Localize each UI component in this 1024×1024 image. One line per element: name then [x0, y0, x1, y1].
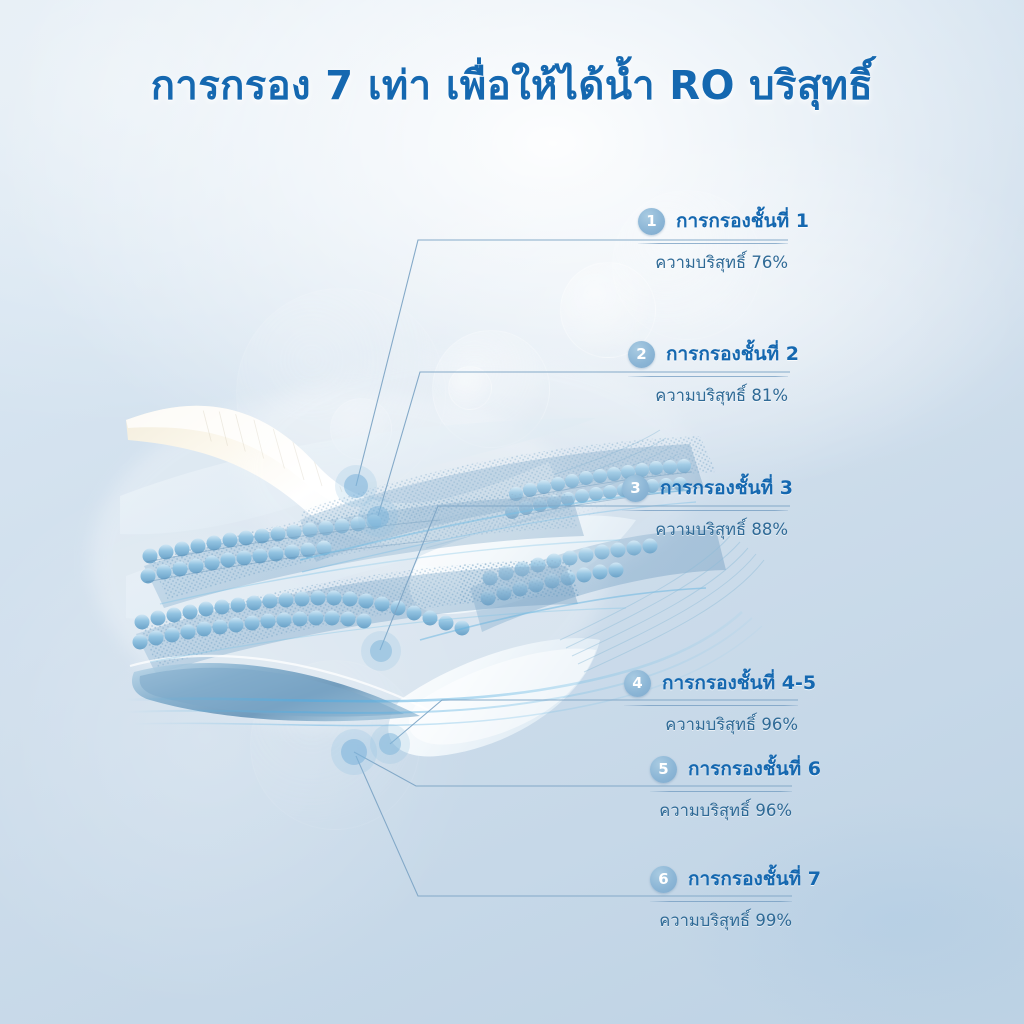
- callout-3[interactable]: 3 การกรองชั้นที่ 3 ความบริสุทธิ์ 88%: [622, 473, 788, 543]
- callout-purity-6: ความบริสุทธิ์ 99%: [650, 908, 792, 934]
- callout-2[interactable]: 2 การกรองชั้นที่ 2 ความบริสุทธิ์ 81%: [628, 339, 788, 409]
- callout-purity-1: ความบริสุทธิ์ 76%: [638, 250, 788, 276]
- callout-label-5: การกรองชั้นที่ 6: [688, 754, 821, 784]
- callout-6[interactable]: 6 การกรองชั้นที่ 7 ความบริสุทธิ์ 99%: [650, 864, 792, 934]
- callout-5[interactable]: 5 การกรองชั้นที่ 6 ความบริสุทธิ์ 96%: [650, 754, 792, 824]
- callout-rule: [650, 901, 792, 902]
- callout-4[interactable]: 4 การกรองชั้นที่ 4-5 ความบริสุทธิ์ 96%: [624, 668, 798, 738]
- callout-purity-4: ความบริสุทธิ์ 96%: [624, 712, 798, 738]
- callout-badge-1: 1: [638, 208, 665, 235]
- callout-label-2: การกรองชั้นที่ 2: [666, 339, 799, 369]
- callout-rule: [638, 243, 788, 244]
- infographic-canvas: การกรอง 7 เท่า เพื่อให้ได้น้ำ RO บริสุทธ…: [0, 0, 1024, 1024]
- callout-rule: [650, 791, 792, 792]
- callout-badge-3: 3: [622, 475, 649, 502]
- callout-badge-6: 6: [650, 866, 677, 893]
- callout-badge-5: 5: [650, 756, 677, 783]
- callout-label-6: การกรองชั้นที่ 7: [688, 864, 821, 894]
- layered-filter-membrane-illustration: [0, 0, 1024, 1024]
- callout-heading-row: 5 การกรองชั้นที่ 6: [650, 754, 792, 784]
- callout-heading-row: 2 การกรองชั้นที่ 2: [628, 339, 788, 369]
- callout-label-3: การกรองชั้นที่ 3: [660, 473, 793, 503]
- callout-label-1: การกรองชั้นที่ 1: [676, 206, 809, 236]
- callout-heading-row: 6 การกรองชั้นที่ 7: [650, 864, 792, 894]
- callout-rule: [622, 510, 788, 511]
- callout-purity-3: ความบริสุทธิ์ 88%: [622, 517, 788, 543]
- callout-label-4: การกรองชั้นที่ 4-5: [662, 668, 816, 698]
- callout-purity-5: ความบริสุทธิ์ 96%: [650, 798, 792, 824]
- callout-rule: [624, 705, 798, 706]
- callout-purity-2: ความบริสุทธิ์ 81%: [628, 383, 788, 409]
- callout-rule: [628, 376, 788, 377]
- callout-badge-2: 2: [628, 341, 655, 368]
- callout-1[interactable]: 1 การกรองชั้นที่ 1 ความบริสุทธิ์ 76%: [638, 206, 788, 276]
- page-title: การกรอง 7 เท่า เพื่อให้ได้น้ำ RO บริสุทธ…: [0, 62, 1024, 110]
- callout-badge-4: 4: [624, 670, 651, 697]
- callout-heading-row: 4 การกรองชั้นที่ 4-5: [624, 668, 798, 698]
- callout-heading-row: 3 การกรองชั้นที่ 3: [622, 473, 788, 503]
- callout-heading-row: 1 การกรองชั้นที่ 1: [638, 206, 788, 236]
